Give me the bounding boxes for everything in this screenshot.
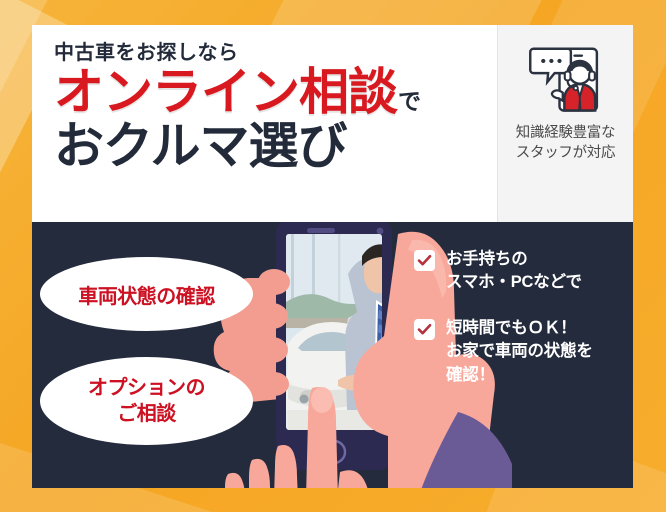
staff-sidebar: 知識経験豊富な スタッフが対応 [497, 25, 633, 222]
phone-speaker [307, 228, 335, 233]
pill-vehicle-condition[interactable]: 車両状態の確認 [40, 257, 253, 331]
pill-option-consult-line2: ご相談 [117, 401, 176, 427]
check-item-shorttime-text: 短時間でもＯＫ！ お家で車両の状態を 確認！ [446, 317, 593, 387]
check-shorttime-line1: 短時間でもＯＫ！ [446, 317, 593, 340]
headline-main-red: オンライン相談 [54, 67, 397, 117]
check-devices-line2: スマホ・PCなどで [446, 271, 582, 294]
ad-banner: 中古車をお探しなら オンライン相談 で おクルマ選び [0, 0, 666, 512]
check-item-devices-text: お手持ちの スマホ・PCなどで [446, 248, 582, 295]
pill-option-consult[interactable]: オプションの ご相談 [40, 357, 253, 445]
features-panel: 車両状態の確認 オプションの ご相談 お手持ちの スマホ・PCなどで [32, 222, 633, 488]
check-item-devices: お手持ちの スマホ・PCなどで [414, 248, 629, 295]
check-shorttime-line3: 確認！ [446, 364, 593, 387]
checkbox-checked-icon[interactable] [414, 319, 435, 340]
operator-headset-icon [525, 39, 607, 117]
headline-column: 中古車をお探しなら オンライン相談 で おクルマ選び [32, 25, 497, 222]
check-item-shorttime: 短時間でもＯＫ！ お家で車両の状態を 確認！ [414, 317, 629, 387]
staff-caption: 知識経験豊富な スタッフが対応 [516, 124, 615, 163]
headline-main-row: オンライン相談 で [54, 67, 497, 117]
phone-camera [377, 228, 384, 235]
check-shorttime-line2: お家で車両の状態を [446, 340, 593, 363]
staff-caption-line2: スタッフが対応 [516, 144, 615, 164]
pill-vehicle-condition-label: 車両状態の確認 [78, 280, 215, 309]
pill-option-consult-line1: オプションの [88, 375, 205, 401]
checkbox-checked-icon[interactable] [414, 250, 435, 271]
check-devices-line1: お手持ちの [446, 248, 582, 271]
staff-caption-line1: 知識経験豊富な [516, 124, 615, 144]
headline-main-suffix: で [398, 90, 421, 117]
headline-panel: 中古車をお探しなら オンライン相談 で おクルマ選び [32, 25, 633, 222]
headline-second-line: おクルマ選び [54, 121, 497, 171]
checklist: お手持ちの スマホ・PCなどで 短時間でもＯＫ！ お家で車両の状態を 確認！ [414, 248, 629, 409]
kicker-text: 中古車をお探しなら [54, 43, 497, 63]
